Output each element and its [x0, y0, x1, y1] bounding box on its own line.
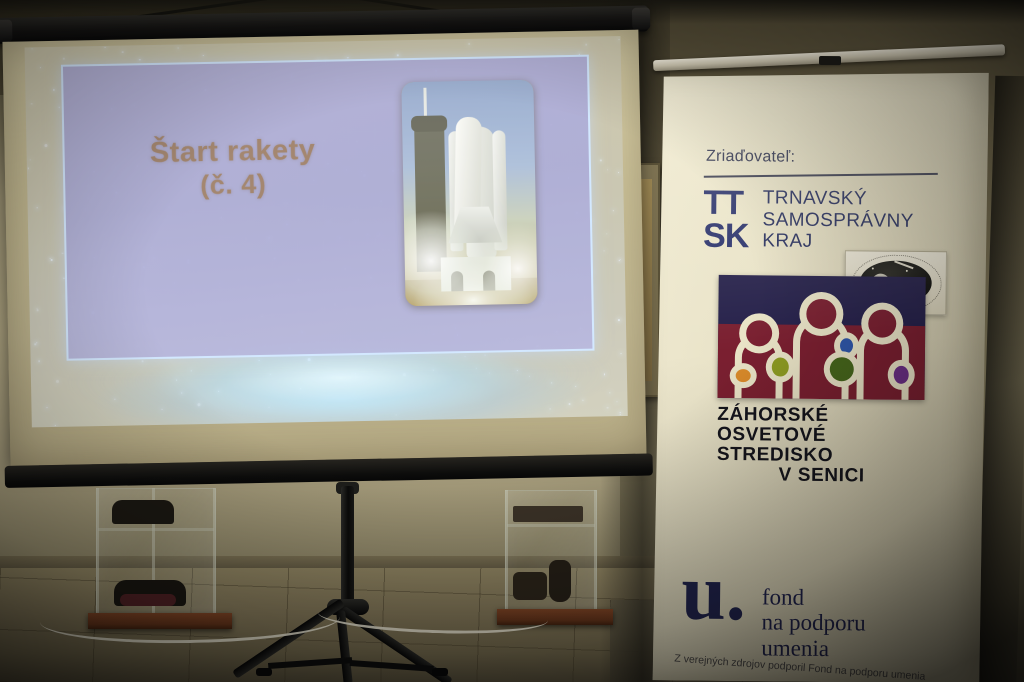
rail-cap-left	[0, 20, 12, 42]
fpu-line-na-podporu: na podporu	[761, 610, 865, 636]
fpu-line-fond: fond	[762, 584, 866, 610]
zos-figure-3-head	[868, 309, 896, 337]
rollup-banner: Zriaďovateľ: TT SK TRNAVSKÝ SAMOSPRÁVNY …	[645, 60, 999, 682]
ttsk-wordmark: TRNAVSKÝ SAMOSPRÁVNY KRAJ	[762, 187, 914, 254]
glass-display-case-with-artifacts	[505, 490, 597, 612]
zos-droplet-purple	[894, 366, 909, 384]
ttsk-logo: TT SK TRNAVSKÝ SAMOSPRÁVNY KRAJ	[703, 187, 968, 255]
ttsk-monogram-tt: TT	[703, 187, 749, 220]
projected-slide: Štart rakety (č. 4)	[25, 36, 628, 427]
projection-screen: Štart rakety (č. 4)	[0, 5, 657, 487]
display-artifact-a	[513, 572, 547, 600]
rail-cap-right	[632, 7, 650, 29]
zos-figure-2-head	[806, 299, 836, 329]
case-shelf	[98, 528, 214, 531]
photo-scene: Štart rakety (č. 4)	[0, 0, 1024, 682]
zos-wordmark: ZÁHORSKÉ OSVETOVÉ STREDISKO V SENICI	[717, 405, 928, 488]
banner-print-surface: Zriaďovateľ: TT SK TRNAVSKÝ SAMOSPRÁVNY …	[653, 69, 989, 682]
zos-droplet-green	[830, 357, 854, 381]
ttsk-word-samospravny: SAMOSPRÁVNY	[762, 209, 913, 232]
fpu-u-mark: u.	[681, 568, 746, 620]
banner-heading-rule	[704, 173, 938, 178]
case-post-left	[505, 490, 508, 612]
fpu-wordmark: fond na podporu umenia	[761, 568, 866, 661]
zos-emblem-artwork	[717, 275, 925, 400]
zos-droplet-orange	[736, 369, 751, 382]
fond-na-podporu-umenia-logo: u. fond na podporu umenia	[681, 568, 962, 663]
zos-line-stredisko: STREDISKO	[717, 445, 927, 467]
projection-light-wash	[25, 36, 628, 427]
ttsk-monogram-sk: SK	[703, 219, 749, 252]
case-post-right	[594, 490, 597, 612]
case-post-left	[96, 488, 99, 616]
display-documents	[513, 506, 583, 522]
screen-fabric: Štart rakety (č. 4)	[2, 30, 646, 466]
zos-line-v-senici: V SENICI	[717, 465, 927, 487]
zos-figure-1-head	[746, 320, 772, 346]
banner-rail-clip	[819, 56, 841, 65]
zahorske-osvetove-stredisko-logo: ZÁHORSKÉ OSVETOVÉ STREDISKO V SENICI	[717, 275, 929, 488]
zos-figure-3	[863, 331, 902, 399]
ttsk-word-trnavsky: TRNAVSKÝ	[763, 187, 914, 210]
display-cap-upper	[112, 500, 174, 524]
fpu-line-umenia: umenia	[761, 635, 865, 661]
zos-droplet-olive	[772, 357, 789, 376]
zos-droplet-blue	[840, 338, 853, 353]
case-shelf	[507, 524, 595, 527]
banner-heading: Zriaďovateľ:	[706, 148, 795, 167]
ttsk-monogram: TT SK	[703, 187, 749, 253]
display-artifact-b	[549, 560, 571, 602]
